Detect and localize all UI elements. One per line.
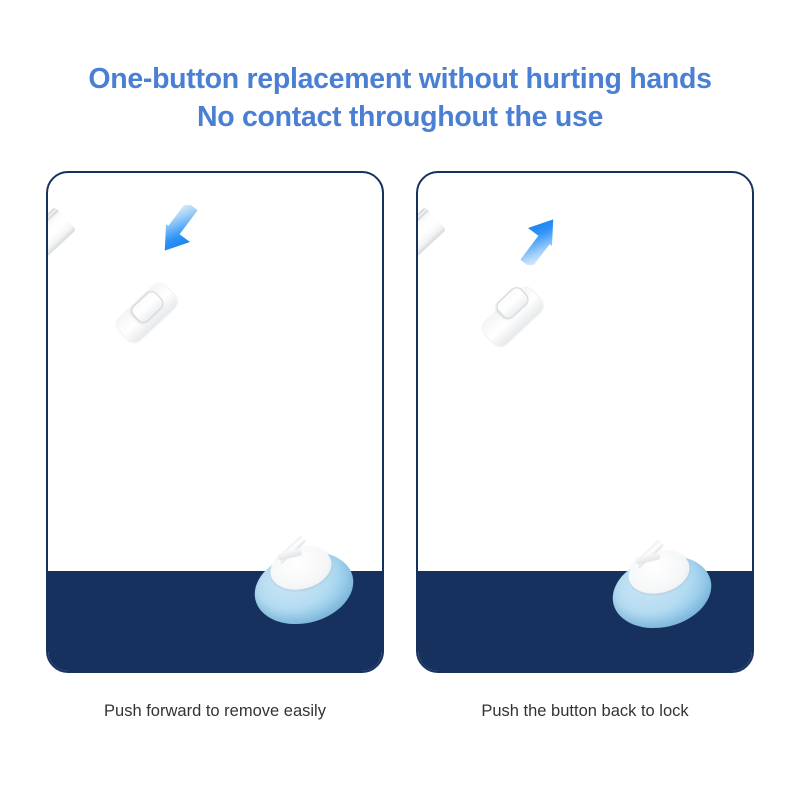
headline-line-1: One-button replacement without hurting h… [0,60,800,98]
illustration-panels [46,171,754,673]
mop-illustration-right [418,173,752,671]
mop-head-right [612,535,716,639]
panel-captions: Push forward to remove easily Push the b… [46,700,754,722]
mop-illustration-left [48,173,382,671]
mop-handle-right [416,207,446,612]
mop-handle-left [46,207,76,612]
caption-remove: Push forward to remove easily [46,700,384,722]
caption-lock: Push the button back to lock [416,700,754,722]
headline-line-2: No contact throughout the use [0,98,800,136]
mop-head-left [254,531,358,635]
arrow-down-right-icon [146,205,208,267]
arrow-up-left-icon [510,203,572,265]
page-title: One-button replacement without hurting h… [0,60,800,136]
panel-remove [46,171,384,673]
panel-lock [416,171,754,673]
